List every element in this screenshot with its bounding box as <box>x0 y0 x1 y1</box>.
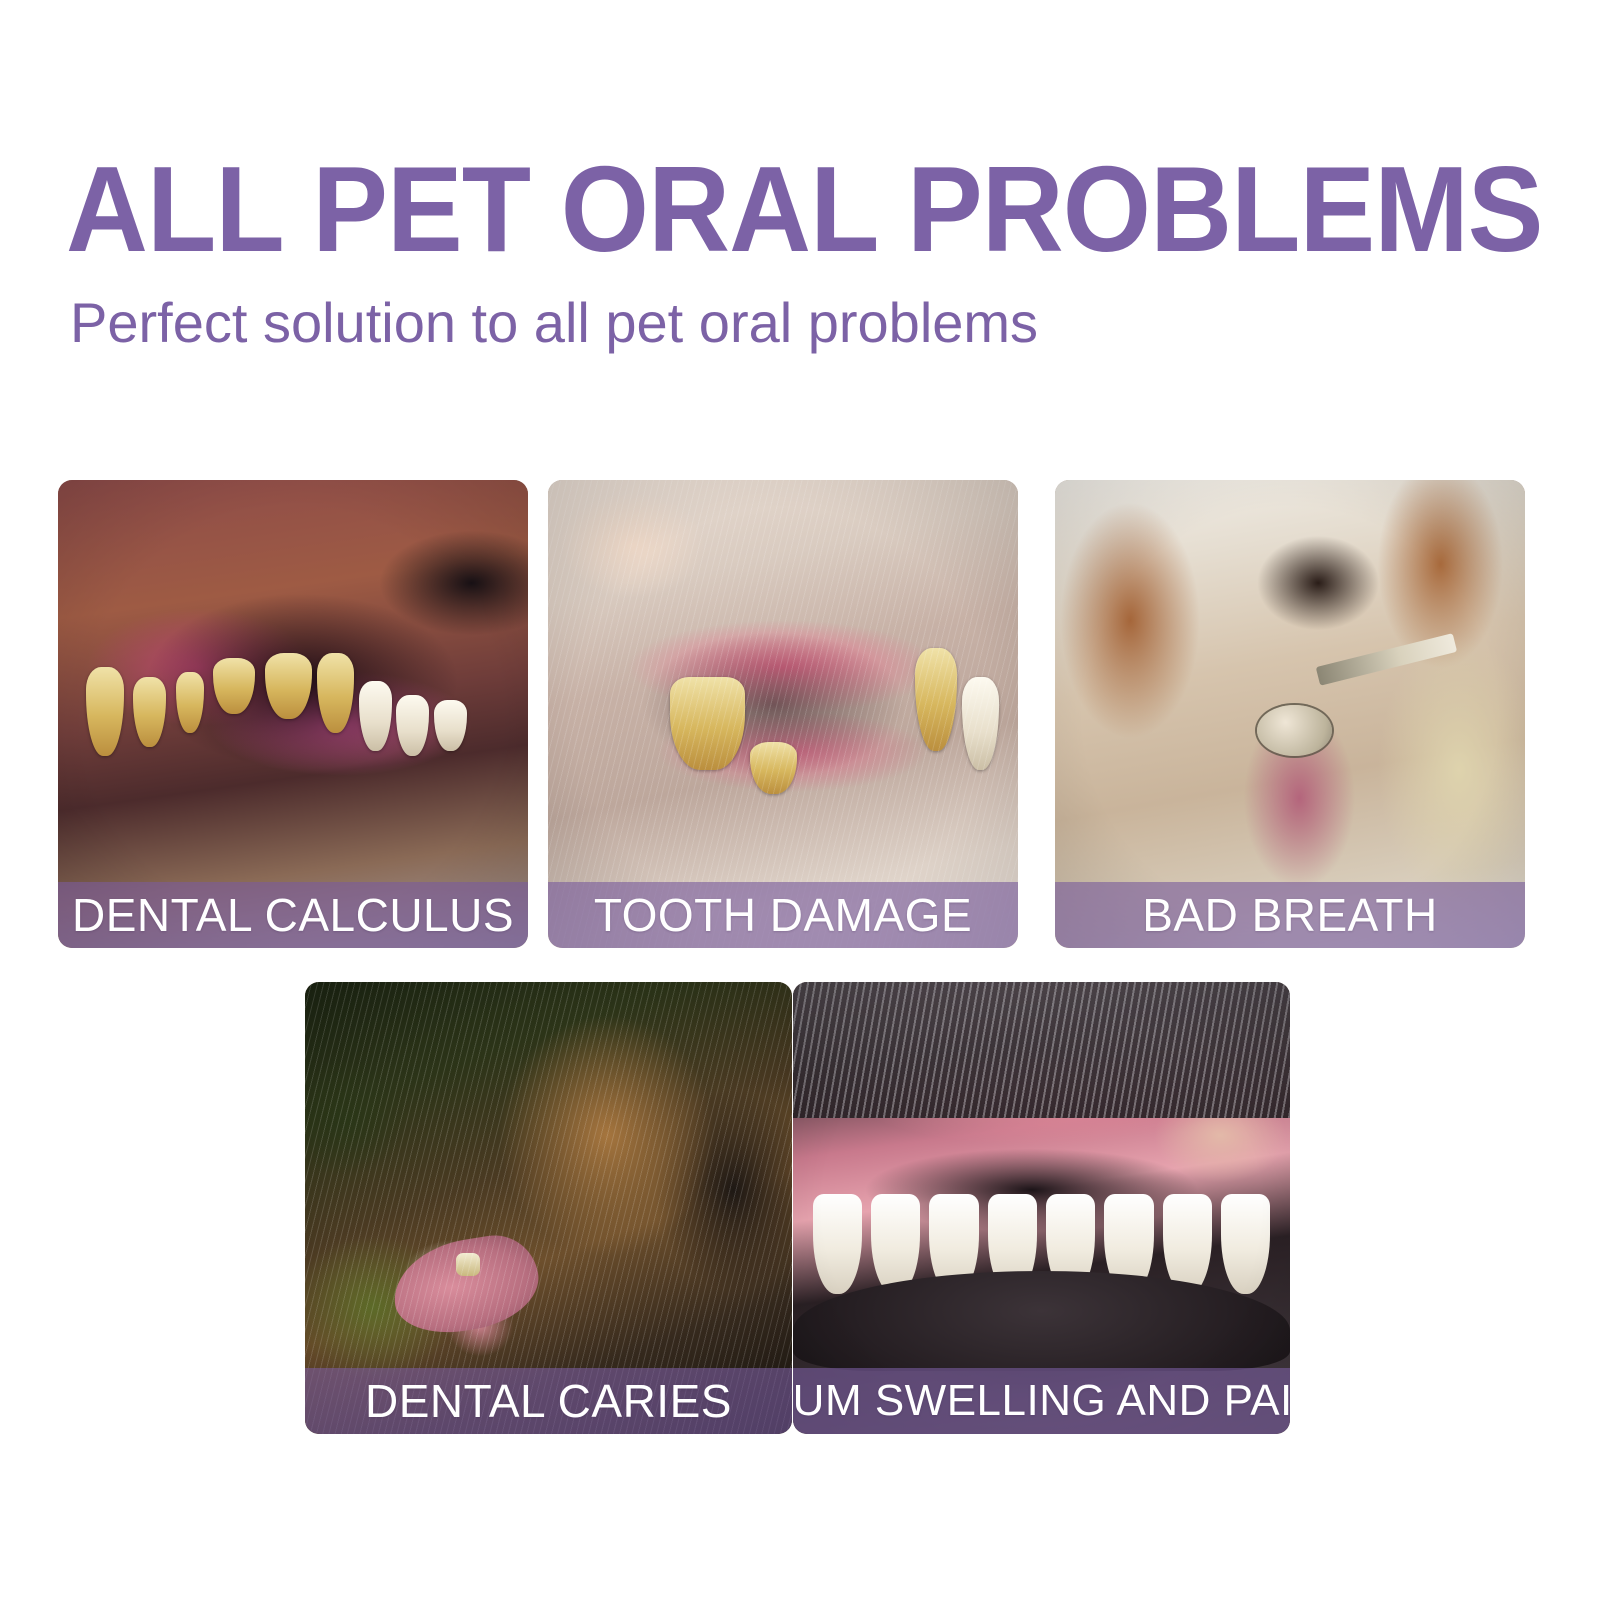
card-label-bar: DENTAL CARIES <box>305 1368 792 1434</box>
card-label-text: DENTAL CARIES <box>365 1378 732 1424</box>
card-label-bar: GUM SWELLING AND PAIN <box>793 1368 1290 1434</box>
photo-tooth-damage <box>548 480 1018 948</box>
card-label-text: TOOTH DAMAGE <box>594 892 972 938</box>
dental-mirror-icon <box>1257 705 1332 756</box>
card-label-text: BAD BREATH <box>1142 892 1438 938</box>
problem-card-tooth-damage[interactable]: TOOTH DAMAGE <box>548 480 1018 948</box>
tongue-shape <box>386 1229 544 1341</box>
page-subtitle: Perfect solution to all pet oral problem… <box>70 292 1038 354</box>
card-label-bar: DENTAL CALCULUS <box>58 882 528 948</box>
page-title: ALL PET ORAL PROBLEMS <box>66 148 1543 270</box>
tooth-shape <box>456 1253 480 1276</box>
problem-card-bad-breath[interactable]: BAD BREATH <box>1055 480 1525 948</box>
card-label-text: GUM SWELLING AND PAIN <box>793 1378 1290 1424</box>
photo-vignette <box>305 982 792 1434</box>
fur-texture <box>305 982 792 1434</box>
card-label-text: DENTAL CALCULUS <box>72 892 514 938</box>
card-label-bar: TOOTH DAMAGE <box>548 882 1018 948</box>
photo-gum-swelling <box>793 982 1290 1434</box>
photo-dental-calculus <box>58 480 528 948</box>
problem-card-dental-calculus[interactable]: DENTAL CALCULUS <box>58 480 528 948</box>
problem-card-dental-caries[interactable]: DENTAL CARIES <box>305 982 792 1434</box>
fur-texture <box>793 982 1290 1118</box>
card-label-bar: BAD BREATH <box>1055 882 1525 948</box>
problem-card-gum-swelling[interactable]: GUM SWELLING AND PAIN <box>793 982 1290 1434</box>
dental-probe-icon <box>1316 633 1457 685</box>
photo-bad-breath <box>1055 480 1525 948</box>
photo-dental-caries <box>305 982 792 1434</box>
